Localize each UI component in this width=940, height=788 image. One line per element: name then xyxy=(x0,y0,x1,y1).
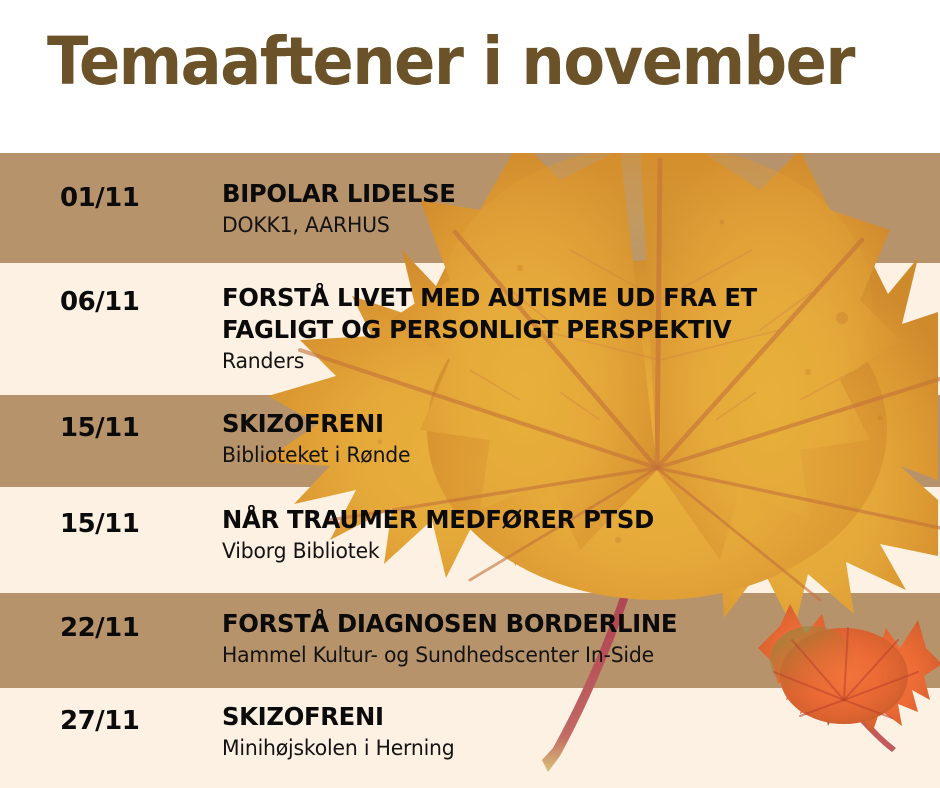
band-row-2 xyxy=(0,263,940,395)
band-row-1 xyxy=(0,153,940,263)
page-title: Temaaftener i november xyxy=(47,26,854,99)
band-row-3 xyxy=(0,395,940,487)
band-row-6 xyxy=(0,688,940,788)
band-row-5 xyxy=(0,593,940,688)
title-banner: Temaaftener i november xyxy=(0,0,940,153)
poster-canvas: Temaaftener i november 01/11 BIPOLAR LID… xyxy=(0,0,940,788)
band-row-4 xyxy=(0,487,940,593)
